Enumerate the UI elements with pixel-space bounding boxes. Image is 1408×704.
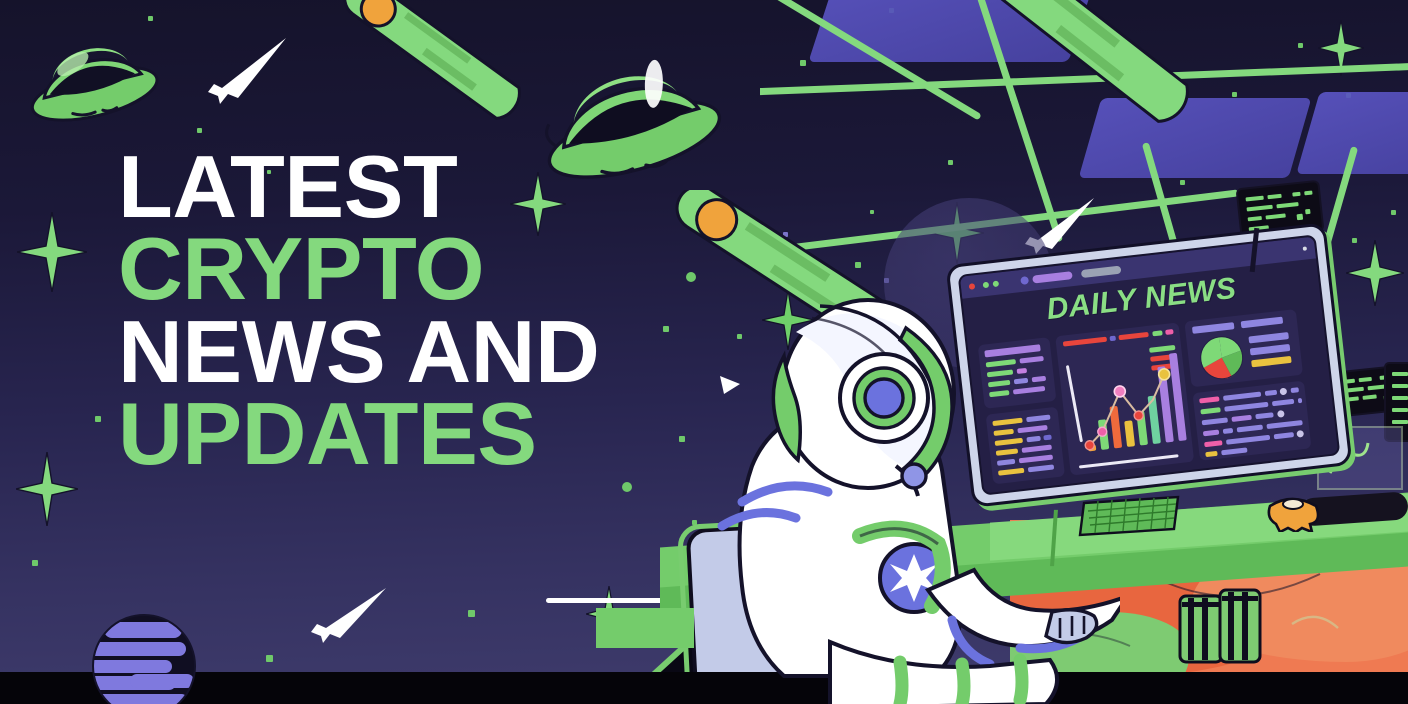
shooting-star-icon xyxy=(198,36,288,106)
comet-icon xyxy=(930,0,1250,150)
headline-line-4: UPDATES xyxy=(118,393,599,475)
chart-card[interactable] xyxy=(1055,322,1194,475)
browser-tab[interactable] xyxy=(1032,271,1073,283)
pie-chart-card[interactable] xyxy=(1184,309,1303,387)
browser-tab-indicator[interactable] xyxy=(1020,276,1029,285)
browser-dot-green[interactable] xyxy=(993,280,1000,287)
browser-menu-dot[interactable] xyxy=(1303,246,1307,250)
monitor[interactable]: DAILY NEWS xyxy=(945,222,1352,508)
headline-line-3: NEWS AND xyxy=(118,311,599,393)
browser-address-bar[interactable] xyxy=(1081,266,1122,278)
page-title: LATEST CRYPTO NEWS AND UPDATES xyxy=(118,146,590,475)
sparkle-star-icon xyxy=(16,452,78,526)
headline-line-2: CRYPTO xyxy=(118,228,599,310)
browser-dot-red[interactable] xyxy=(969,283,976,290)
monitor-screen[interactable]: DAILY NEWS xyxy=(958,234,1341,495)
news-card-left-top[interactable] xyxy=(978,337,1057,409)
news-card-left-bottom[interactable] xyxy=(986,407,1065,485)
news-list-card[interactable] xyxy=(1192,381,1311,461)
headline-line-1: LATEST xyxy=(118,146,599,228)
sparkle-star-icon xyxy=(17,212,87,292)
shooting-star-icon xyxy=(300,586,390,646)
pie-chart xyxy=(1195,333,1248,382)
comet-icon xyxy=(330,0,560,130)
banner-illustration: DAILY NEWS xyxy=(0,0,1408,704)
line-chart xyxy=(1055,322,1194,475)
striped-planet xyxy=(92,614,196,704)
browser-dot-green[interactable] xyxy=(983,282,990,289)
ufo-large-icon xyxy=(22,28,162,138)
